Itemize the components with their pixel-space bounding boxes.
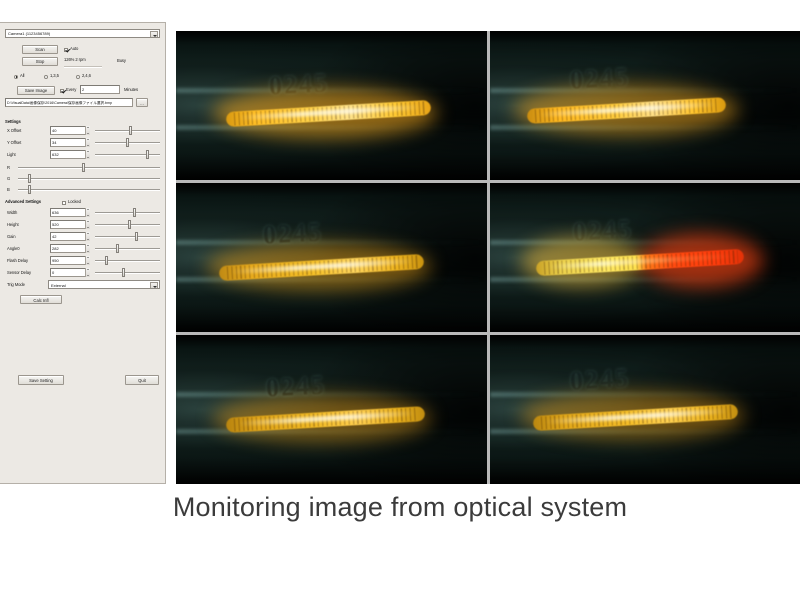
flash-delay-stepper[interactable] <box>85 256 90 265</box>
flash-delay-input[interactable]: 950 <box>50 256 90 265</box>
x-offset-slider[interactable] <box>95 126 160 135</box>
gain-stepper[interactable] <box>85 232 90 241</box>
width-input[interactable]: 636 <box>50 208 90 217</box>
camera-view-1[interactable]: 0245 <box>176 31 487 180</box>
auto-label: Auto <box>70 46 78 52</box>
slider-track <box>95 130 160 132</box>
radio-all-label: All <box>20 73 24 79</box>
gain-label: Gain <box>7 234 15 240</box>
every-label: Every <box>66 87 76 93</box>
angle0-slider[interactable] <box>95 244 160 253</box>
height-label: Height <box>7 222 19 228</box>
x-offset-stepper[interactable] <box>85 126 90 135</box>
height-stepper[interactable] <box>85 220 90 229</box>
status-text: Busy <box>117 58 126 64</box>
slider-thumb[interactable] <box>129 126 132 135</box>
chevron-down-icon[interactable] <box>150 31 158 38</box>
slider-track <box>95 212 160 214</box>
width-stepper[interactable] <box>85 208 90 217</box>
x-offset-input[interactable]: 40 <box>50 126 90 135</box>
r-label: R <box>7 165 10 171</box>
pipe-band <box>176 392 487 397</box>
every-unit-label: Minutes <box>124 87 138 93</box>
every-value-input[interactable]: 2 <box>80 85 120 94</box>
slider-thumb[interactable] <box>105 256 108 265</box>
pipe-stamp-text: 0245 <box>262 217 323 250</box>
slider-track <box>95 236 160 238</box>
radio-135[interactable] <box>44 75 48 79</box>
slider-track <box>18 189 160 191</box>
g-label: G <box>7 176 10 182</box>
settings-title: Settings <box>5 119 21 125</box>
locked-checkbox[interactable] <box>62 201 66 205</box>
y-offset-label: Y Offset <box>7 140 21 146</box>
pipe-band <box>176 125 487 130</box>
sensor-delay-stepper[interactable] <box>85 268 90 277</box>
chevron-down-icon[interactable] <box>150 282 158 289</box>
pipe-sheen <box>176 183 487 332</box>
x-offset-label: X Offset <box>7 128 21 134</box>
pipe-band <box>176 88 487 93</box>
slider-track <box>18 178 160 180</box>
camera-view-3[interactable]: 0245 <box>176 183 487 332</box>
light-stepper[interactable] <box>85 150 90 159</box>
slider-thumb[interactable] <box>28 185 31 194</box>
every-checkbox[interactable] <box>60 89 64 93</box>
camera-select-value: Camera1 (1123456789) <box>8 31 50 36</box>
radio-all[interactable] <box>14 75 18 79</box>
save-setting-button[interactable]: Save Setting <box>18 375 64 385</box>
camera-image-grid: 0245 0245 0245 <box>176 31 800 484</box>
slider-thumb[interactable] <box>135 232 138 241</box>
trig-mode-label: Trig Mode <box>7 282 25 288</box>
y-offset-slider[interactable] <box>95 138 160 147</box>
camera-view-2[interactable]: 0245 <box>490 31 800 180</box>
pipe-stamp-text: 0245 <box>265 371 326 404</box>
auto-checkbox[interactable] <box>64 48 68 52</box>
save-image-button[interactable]: Save Image <box>17 86 55 95</box>
radio-246-label: 2,4,6 <box>82 73 91 79</box>
pipe-stamp-text: 0245 <box>573 214 634 247</box>
slider-track <box>95 248 160 250</box>
slider-thumb[interactable] <box>146 150 149 159</box>
light-slider[interactable] <box>95 150 160 159</box>
quit-button[interactable]: Quit <box>125 375 159 385</box>
camera-control-panel: Camera1 (1123456789) Scan Auto Stop 126%… <box>0 22 166 484</box>
camera-select[interactable]: Camera1 (1123456789) <box>5 29 160 38</box>
rate-underline <box>64 66 102 68</box>
angle0-label: Angle0 <box>7 246 19 252</box>
trig-mode-select[interactable]: External <box>48 280 160 289</box>
slider-thumb[interactable] <box>126 138 129 147</box>
slider-track <box>95 154 160 156</box>
light-input[interactable]: 632 <box>50 150 90 159</box>
gain-slider[interactable] <box>95 232 160 241</box>
pipe-stamp-text: 0245 <box>569 363 630 396</box>
radio-135-label: 1,3,5 <box>50 73 59 79</box>
slider-thumb[interactable] <box>122 268 125 277</box>
rate-value: 126% 2 rpm <box>64 57 86 63</box>
gain-input[interactable]: 42 <box>50 232 90 241</box>
width-slider[interactable] <box>95 208 160 217</box>
width-label: Width <box>7 210 17 216</box>
g-slider[interactable] <box>18 174 160 183</box>
scan-button[interactable]: Scan <box>22 45 58 54</box>
light-label: Light <box>7 152 16 158</box>
flash-delay-slider[interactable] <box>95 256 160 265</box>
angle0-stepper[interactable] <box>85 244 90 253</box>
save-path-input[interactable]: D:\VisualData\画像保存\2016\Camera\保存画像ファイル選… <box>5 98 133 107</box>
sensor-delay-label: Sensor Delay <box>7 270 31 276</box>
pipe-stamp-text: 0245 <box>569 62 630 95</box>
camera-view-6[interactable]: 0245 <box>490 335 800 484</box>
window-titlebar <box>0 22 165 23</box>
b-slider[interactable] <box>18 185 160 194</box>
slider-thumb[interactable] <box>128 220 131 229</box>
camera-view-4[interactable]: 0245 <box>490 183 800 332</box>
calc-infl-button[interactable]: Calc Infl <box>20 295 62 304</box>
figure-caption: Monitoring image from optical system <box>0 492 800 523</box>
pipe-band <box>176 429 487 434</box>
pipe-sheen <box>176 335 487 484</box>
y-offset-input[interactable]: 34 <box>50 138 90 147</box>
sensor-delay-input[interactable]: 0 <box>50 268 90 277</box>
slider-thumb[interactable] <box>82 163 85 172</box>
slider-track <box>18 167 160 169</box>
slider-track <box>95 272 160 274</box>
browse-button[interactable]: ... <box>136 98 148 107</box>
pipe-band <box>490 88 800 93</box>
pipe-band <box>176 240 487 245</box>
slider-thumb[interactable] <box>133 208 136 217</box>
height-input[interactable]: 520 <box>50 220 90 229</box>
locked-label: Locked <box>68 199 81 205</box>
stop-button[interactable]: Stop <box>22 57 58 66</box>
pipe-stamp-text: 0245 <box>268 68 329 101</box>
slider-thumb[interactable] <box>116 244 119 253</box>
trig-mode-value: External <box>51 283 66 288</box>
camera-view-5[interactable]: 0245 <box>176 335 487 484</box>
pipe-band <box>490 125 800 130</box>
flash-delay-label: Flash Delay <box>7 258 28 264</box>
b-label: B <box>7 187 10 193</box>
slider-thumb[interactable] <box>28 174 31 183</box>
radio-246[interactable] <box>76 75 80 79</box>
height-slider[interactable] <box>95 220 160 229</box>
pipe-band <box>490 240 800 245</box>
pipe-band <box>490 277 800 282</box>
angle0-input[interactable]: 282 <box>50 244 90 253</box>
r-slider[interactable] <box>18 163 160 172</box>
pipe-band <box>490 392 800 397</box>
sensor-delay-slider[interactable] <box>95 268 160 277</box>
y-offset-stepper[interactable] <box>85 138 90 147</box>
advanced-settings-title: Advanced Settings <box>5 199 41 205</box>
